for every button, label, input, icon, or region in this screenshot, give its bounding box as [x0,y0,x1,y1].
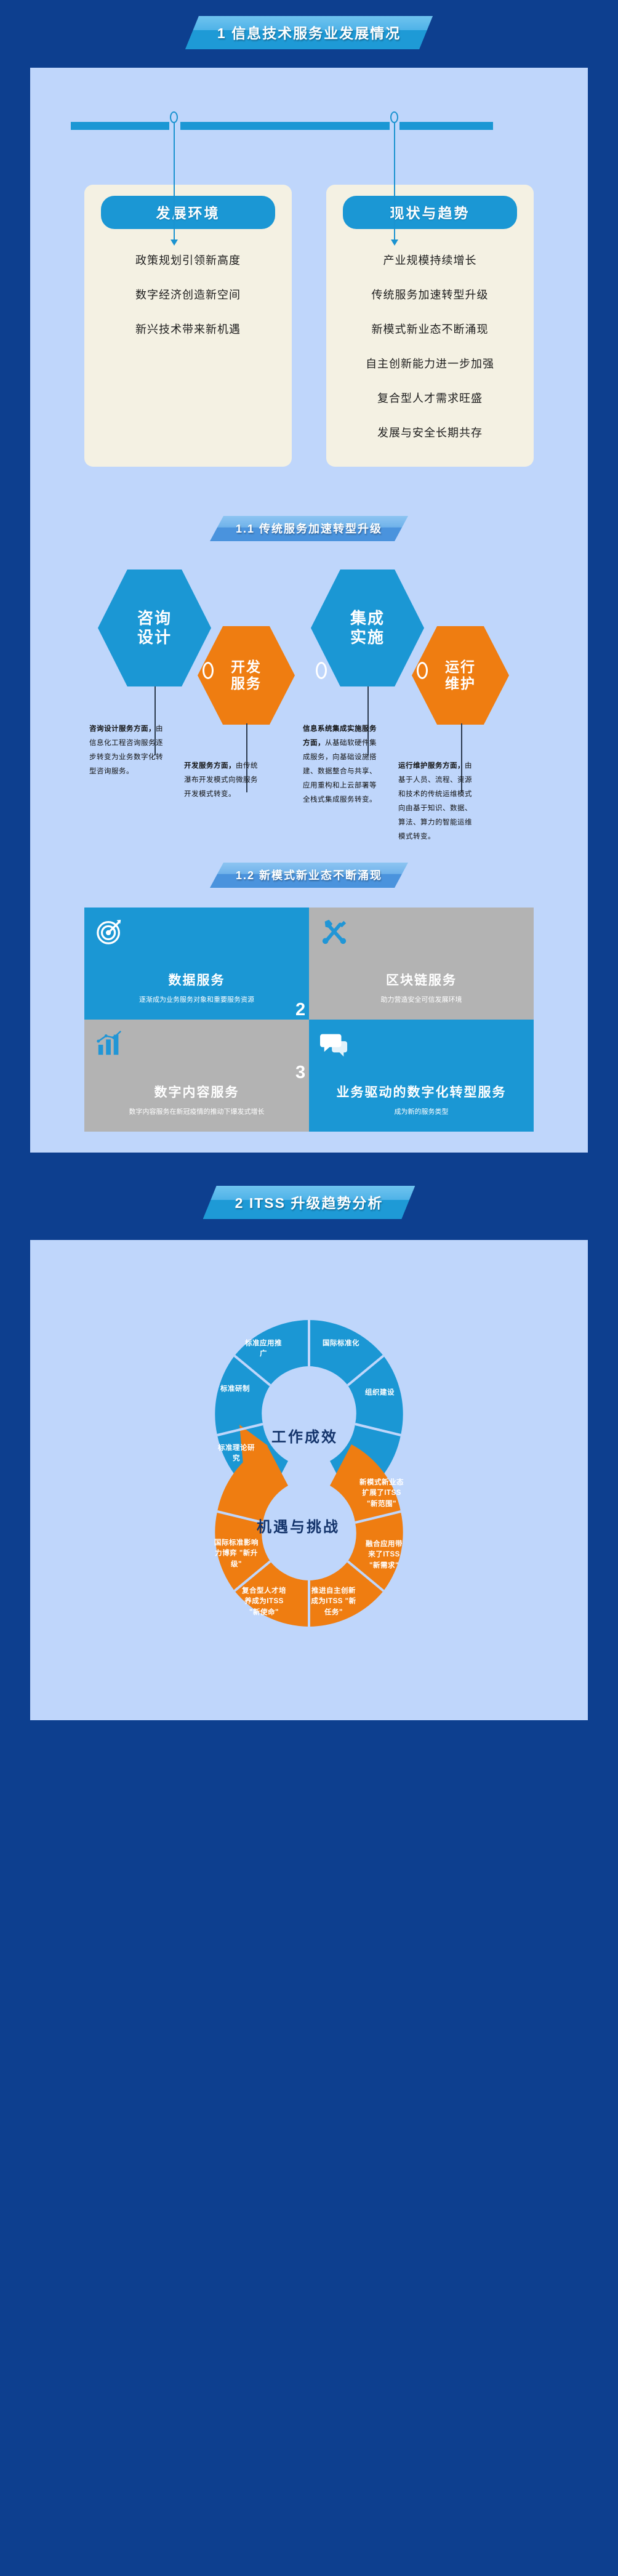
badge-2: 2 [295,1000,305,1020]
timeline-pin-2 [394,119,395,240]
badge-3: 3 [295,1063,305,1083]
list-item: 自主创新能力进一步加强 [326,346,534,380]
timeline-bar-left [71,122,169,130]
section-1-1-banner: 1.1 传统服务加速转型升级 [210,516,408,541]
grid-cell-title: 区块链服务 [320,970,523,989]
grid-cell-subtitle: 数字内容服务在新冠疫情的推动下爆发式增长 [95,1106,298,1118]
section-1-1-banner-wrap: 1.1 传统服务加速转型升级 [30,495,588,562]
upper-label-organization-building: 组织建设 [361,1388,398,1398]
list-item: 产业规模持续增长 [326,243,534,277]
caption-rest: 由信息化工程咨询服务逐步转变为业务数字化转型咨询服务。 [89,725,163,775]
lower-label-new-mission: 复合型人才培养成为ITSS "新使命" [239,1586,289,1618]
upper-label-standard-development: 标准研制 [214,1384,257,1395]
hex-line-1: 咨询 [137,609,172,628]
banner-shadow [191,49,427,53]
upper-label-standard-theory-research: 标准理论研究 [215,1443,258,1465]
section-1-1-banner-label: 1.1 传统服务加速转型升级 [236,523,382,535]
caption-lead: 咨询设计服务方面， [89,725,156,733]
section-1-2-banner: 1.2 新模式新业态不断涌现 [210,863,408,888]
hexagon-captions: 咨询设计服务方面，由信息化工程咨询服务逐步转变为业务数字化转型咨询服务。 开发服… [30,716,588,845]
caption-rest: 由基于人员、流程、资源和技术的传统运维模式向由基于知识、数据、算法、算力的智能运… [398,762,472,840]
section-2-panel: 工作成效 机遇与挑战 标准应用推广 国际标准化 组织建设 标准研制 标准理论研究… [30,1240,588,1720]
card-title-label: 发展环境 [156,205,220,221]
caption-consulting-design: 咨询设计服务方面，由信息化工程咨询服务逐步转变为业务数字化转型咨询服务。 [89,722,164,779]
section-1-panel: 发展环境 政策规划引领新高度 数字经济创造新空间 新兴技术带来新机遇 现状与趋势… [30,68,588,1153]
section-1-2-banner-wrap: 1.2 新模式新业态不断涌现 [30,845,588,892]
grid-cell-business-driven-transformation[interactable]: 业务驱动的数字化转型服务 成为新的服务类型 3 [309,1020,534,1132]
target-icon [95,917,124,946]
tools-icon [320,917,348,946]
hex-integration-implementation[interactable]: 集成 实施 [311,570,424,686]
upper-label-internationalization: 国际标准化 [319,1338,363,1349]
grid-cell-subtitle: 成为新的服务类型 [320,1106,523,1118]
card-line-list: 政策规划引领新高度 数字经济创造新空间 新兴技术带来新机遇 [84,243,292,346]
grid-cell-body: 数据服务 逐渐成为业务服务对象和重要服务资源 [95,970,298,1010]
grid-cell-data-service[interactable]: 数据服务 逐渐成为业务服务对象和重要服务资源 1 [84,908,309,1020]
caption-rest: 从基础软硬件集成服务，向基础设施搭建、数据整合与共享、应用重构和上云部署等全栈式… [303,739,377,803]
lower-label-new-upgrade: 国际标准影响力博弈 "新升级" [212,1538,260,1570]
caption-development-service: 开发服务方面，由传统瀑布开发模式向微服务开发模式转变。 [184,759,259,802]
itss-swirl-diagram: 工作成效 机遇与挑战 标准应用推广 国际标准化 组织建设 标准研制 标准理论研究… [30,1261,588,1692]
section-2-banner-label: 2 ITSS 升级趋势分析 [235,1195,383,1211]
grid-cell-title: 业务驱动的数字化转型服务 [320,1082,523,1101]
section-1-2-banner-label: 1.2 新模式新业态不断涌现 [236,869,382,882]
list-item: 传统服务加速转型升级 [326,277,534,312]
card-line-list: 产业规模持续增长 传统服务加速转型升级 新模式新业态不断涌现 自主创新能力进一步… [326,243,534,449]
banner-shadow [216,541,402,545]
upper-label-standard-application-promotion: 标准应用推广 [242,1338,285,1360]
card-title-chip: 发展环境 [101,196,275,229]
section-1-banner-label: 1 信息技术服务业发展情况 [217,25,401,41]
timeline-bar-mid [180,122,390,130]
list-item: 数字经济创造新空间 [84,277,292,312]
section-1-banner: 1 信息技术服务业发展情况 [185,16,433,49]
list-item: 发展与安全长期共存 [326,415,534,449]
hex-line-1: 开发 [231,659,262,675]
hex-consulting-design[interactable]: 咨询 设计 [98,570,211,686]
caption-lead: 运行维护服务方面， [398,762,465,770]
pin-ring-icon [170,111,178,123]
caption-lead: 开发服务方面， [184,762,236,770]
grid-cell-digital-content-service[interactable]: 数字内容服务 数字内容服务在新冠疫情的推动下爆发式增长 4 [84,1020,309,1132]
section-1-2-grid: 数据服务 逐渐成为业务服务对象和重要服务资源 1 区块链服务 助力营造安全可信发… [30,892,588,1153]
hex-line-2: 维护 [445,675,476,692]
section-2-banner-wrap: 2 ITSS 升级趋势分析 [0,1153,618,1240]
caption-operation-maintenance: 运行维护服务方面，由基于人员、流程、资源和技术的传统运维模式向由基于知识、数据、… [398,759,473,844]
lower-label-new-task: 推进自主创新成为ITSS "新任务" [310,1586,358,1618]
section-1-cards: 发展环境 政策规划引领新高度 数字经济创造新空间 新兴技术带来新机遇 现状与趋势… [30,185,588,495]
chat-icon [320,1029,348,1058]
hex-line-2: 实施 [350,628,385,647]
card-title-label: 现状与趋势 [390,205,470,221]
list-item: 政策规划引领新高度 [84,243,292,277]
hexagon-stage: 咨询 设计 开发 服务 集成 实施 运行 维护 [30,562,588,716]
grid-cell-title: 数字内容服务 [95,1082,298,1101]
banner-shadow [209,1219,409,1223]
card-development-environment: 发展环境 政策规划引领新高度 数字经济创造新空间 新兴技术带来新机遇 [84,185,292,467]
list-item: 新模式新业态不断涌现 [326,312,534,346]
section-2-banner: 2 ITSS 升级趋势分析 [203,1186,415,1219]
grid-cell-body: 业务驱动的数字化转型服务 成为新的服务类型 [320,1082,523,1122]
section-1-banner-wrap: 1 信息技术服务业发展情况 [0,0,618,68]
card-status-and-trends: 现状与趋势 产业规模持续增长 传统服务加速转型升级 新模式新业态不断涌现 自主创… [326,185,534,467]
upper-core-label: 工作成效 [271,1425,338,1446]
hex-line-1: 运行 [445,659,476,675]
grid-cell-body: 数字内容服务 数字内容服务在新冠疫情的推动下爆发式增长 [95,1082,298,1122]
pin-ring-icon [390,111,398,123]
grid-cell-blockchain-service[interactable]: 区块链服务 助力营造安全可信发展环境 2 [309,908,534,1020]
hex-line-2: 服务 [231,675,262,692]
grid-cell-subtitle: 逐渐成为业务服务对象和重要服务资源 [95,994,298,1006]
grid-cell-title: 数据服务 [95,970,298,989]
hex-connector-ring-icon [417,662,428,679]
timeline-bar-right [399,122,493,130]
swirl-svg [30,1261,588,1692]
caption-integration-implementation: 信息系统集成实施服务方面，从基础软硬件集成服务，向基础设施搭建、数据整合与共享、… [303,722,378,807]
list-item: 复合型人才需求旺盛 [326,380,534,415]
pin-tip-icon [391,239,398,246]
card-title-chip: 现状与趋势 [343,196,517,229]
timeline-pin-1 [174,119,175,240]
grid-cell-subtitle: 助力营造安全可信发展环境 [320,994,523,1006]
hex-connector-ring-icon [316,662,327,679]
hex-line-1: 集成 [350,609,385,628]
lower-core-label: 机遇与挑战 [257,1515,340,1536]
list-item: 新兴技术带来新机遇 [84,312,292,346]
lower-label-new-scope: 新模式新业态扩展了ITSS "新范围" [358,1478,406,1510]
chart-icon [95,1029,124,1058]
hex-connector-ring-icon [203,662,214,679]
hex-line-2: 设计 [137,628,172,647]
pin-tip-icon [171,239,178,246]
grid-cell-body: 区块链服务 助力营造安全可信发展环境 [320,970,523,1010]
timeline [30,74,588,185]
lower-label-new-demand: 融合应用带来了ITSS "新需求" [363,1539,406,1571]
